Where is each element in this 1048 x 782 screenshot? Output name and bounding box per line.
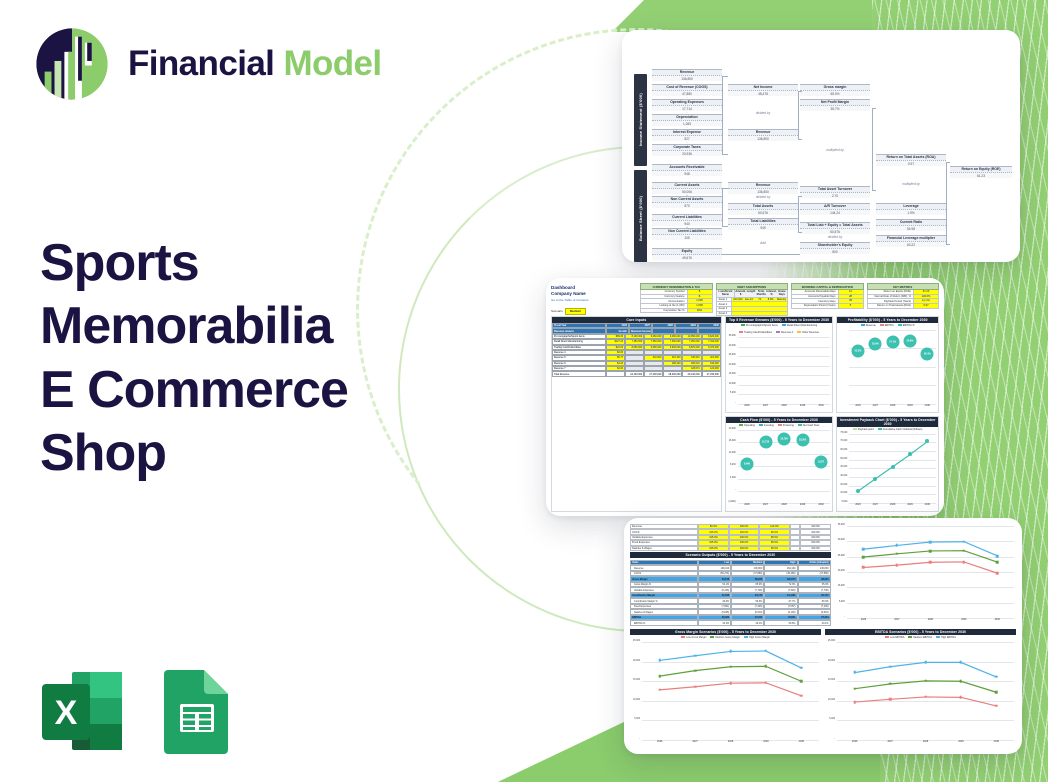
dupont-node-roa: Return on Total Assets (ROA)0.97: [876, 154, 946, 166]
dupont-node-title: Net Income: [728, 84, 798, 91]
legend-swatch: [778, 424, 782, 426]
ebitda-percent-bubble: 55.3%: [852, 344, 865, 357]
x-tick: 2028: [908, 740, 943, 748]
dupont-node-title: Operating Expenses: [652, 99, 722, 106]
y-axis-labels: 35,00030,00025,00020,00015,00010,0005,00…: [726, 335, 737, 404]
ebitda-percent-bubble: 60.4%: [921, 348, 934, 361]
y-tick: 15,000: [825, 679, 835, 681]
y-tick: 70,000: [837, 440, 847, 442]
core-inputs-cell[interactable]: 27,400,000: [644, 371, 663, 376]
core-inputs-cell[interactable]: 29,140,000: [682, 371, 701, 376]
y-axis-labels: 35,00030,00025,00020,00015,0005,000-: [835, 524, 846, 618]
y-tick: 5,000: [630, 718, 640, 720]
cash-flow-bubble: 8,466: [740, 458, 753, 471]
dupont-node-gross_margin: Gross margin65.0%: [800, 84, 870, 96]
x-tick: 2026: [738, 503, 757, 511]
x-axis-labels: 20262027202820292030: [849, 503, 936, 511]
row-value[interactable]: 1,000: [688, 299, 712, 303]
core-inputs-panel: Core Inputs Fiscal Year20262027202820292…: [551, 316, 722, 512]
y-tick: 5,000: [825, 718, 835, 720]
scenario-selector[interactable]: Scenario Medium: [551, 308, 637, 315]
balance-sheet-band: Balance Sheet ($'000): [634, 170, 647, 262]
data-point-marker: [995, 676, 998, 679]
dupont-node-title: Total Assets: [728, 203, 798, 210]
dupont-node-value: 65.0%: [800, 91, 870, 96]
row-value[interactable]: 28: [839, 295, 863, 299]
scenario-value[interactable]: Medium: [565, 308, 586, 315]
svg-text:X: X: [55, 694, 78, 732]
y-tick: (4,000): [726, 501, 736, 503]
currency-denomination-panel: CURRENCY DENOMINATION & TAX Currency Sym…: [640, 283, 713, 313]
row-value[interactable]: 61.23: [914, 290, 938, 294]
x-tick: 2026: [849, 503, 866, 511]
x-tick: 2027: [880, 618, 913, 626]
legend-item: Other Revenue: [797, 331, 819, 334]
debt-cell[interactable]: [743, 307, 754, 311]
dupont-node-net_income: Net Income48,478: [728, 84, 798, 96]
debt-cell[interactable]: [743, 312, 754, 316]
data-point-marker: [996, 555, 999, 558]
core-inputs-column: Core Inputs Fiscal Year20262027202820292…: [551, 316, 722, 512]
dupont-node-value: 948: [652, 171, 722, 176]
y-tick: 8,000: [726, 464, 736, 466]
y-tick: 30,000: [837, 475, 847, 477]
payback-marker: [873, 477, 877, 481]
x-tick: 2027: [756, 404, 775, 412]
y-tick: 20,000: [726, 428, 736, 430]
debt-cell[interactable]: Asset 2: [717, 302, 733, 306]
x-tick: 2030: [919, 404, 936, 412]
legend-swatch: [861, 324, 865, 326]
legend-item: Cumulative Cash Outflows/(Inflows): [878, 428, 923, 431]
x-tick: 2027: [867, 404, 884, 412]
dupont-connector: [798, 196, 802, 197]
dupont-node-tle_ta: Total Liab + Equity = Total Assets50,576: [800, 222, 870, 234]
debt-cell[interactable]: [765, 307, 776, 311]
x-axis-labels: 20262027202820292030: [738, 404, 831, 412]
debt-cell[interactable]: [765, 302, 776, 306]
dupont-node-title: Shareholder's Equity: [800, 242, 870, 249]
debt-col-header: Interest, %: [766, 290, 776, 297]
dupont-node-value: 48,478: [728, 91, 798, 96]
dupont-node-ar: Accounts Receivable948: [652, 164, 722, 176]
dupont-node-title: Interest Expense: [652, 129, 722, 136]
legend-item: Trading Card/Collectibles: [739, 331, 772, 334]
dupont-node-value: 50,576: [800, 229, 870, 234]
scenario-left-column: Revenue80.0%100.0%120.0%100.0%COGS105.0%…: [630, 524, 831, 626]
dupont-node-value: 2.70: [800, 193, 870, 198]
dupont-connector: [722, 188, 723, 226]
x-tick: 2030: [981, 618, 1014, 626]
scenario-overview-chart[interactable]: 35,00030,00025,00020,00015,0005,000-2026…: [835, 524, 1016, 626]
dupont-node-value: 144.24: [800, 210, 870, 215]
row-label: Depreciation Period (Years): [792, 304, 839, 308]
scenario-spacer: [790, 546, 801, 551]
dupont-analysis-card[interactable]: Income Statement ($'000)Balance Sheet ($…: [622, 30, 1020, 262]
gross-margin-plot: 25,00020,00015,00010,0005,000-2026202720…: [630, 640, 821, 748]
debt-cell[interactable]: [776, 302, 787, 306]
row-value[interactable]: 35: [839, 299, 863, 303]
scenario-overview-plot: 35,00030,00025,00020,00015,0005,000-2026…: [835, 524, 1016, 626]
scenario-input-value[interactable]: 105.0%: [698, 546, 728, 551]
debt-cell[interactable]: Asset 3: [717, 307, 733, 311]
y-tick: 10,000: [825, 699, 835, 701]
x-tick: 2029: [947, 618, 980, 626]
dupont-node-revenue_ta: Revenue136,800: [728, 182, 798, 194]
y-axis-labels: 75,00070,00060,00050,00040,00030,00020,0…: [837, 432, 848, 504]
dupont-node-title: Revenue: [728, 129, 798, 136]
x-tick: 2026: [738, 404, 757, 412]
data-point-marker: [963, 540, 966, 543]
ebitda-bar-label: 15,320: [875, 401, 882, 403]
row-label: Looking at the (1,000): [641, 304, 688, 308]
row-value[interactable]: 0.97: [914, 304, 938, 308]
scenario-row-value: 49.1%: [798, 620, 831, 626]
data-point-marker: [694, 654, 697, 657]
dupont-diagram: Income Statement ($'000)Balance Sheet ($…: [622, 30, 1020, 262]
row-label: Inventory Days: [792, 299, 839, 303]
scenario-row-value: 33.2%: [698, 620, 731, 626]
dupont-connector: [946, 162, 950, 163]
x-axis-labels: 20262027202820292030: [847, 618, 1014, 626]
legend-item: Payback point: [853, 428, 874, 431]
debt-cell[interactable]: Maturity: [776, 298, 787, 302]
row-value[interactable]: 12: [839, 290, 863, 294]
brand-word-one: Financial: [128, 44, 274, 83]
x-tick: 2030: [812, 404, 831, 412]
core-inputs-cell[interactable]: [606, 371, 625, 376]
ebitda-percent-bubble: 55.9%: [869, 338, 882, 351]
x-tick: 2026: [837, 740, 872, 748]
y-tick: 25,000: [825, 640, 835, 642]
dupont-node-title: Financial Leverage multiplier: [876, 235, 946, 242]
plot-area: 8,46615,73016,70016,5009,237: [738, 430, 831, 504]
y-tick: -: [726, 489, 736, 491]
dupont-node-title: Current Liabilities: [652, 214, 722, 221]
dupont-node-title: Current Assets: [652, 182, 722, 189]
y-tick: 60,000: [837, 449, 847, 451]
legend-swatch: [776, 331, 780, 333]
core-inputs-cell[interactable]: 28,400,000: [663, 371, 682, 376]
y-axis-labels: 20,00016,00012,0008,0004,000-(4,000): [726, 428, 737, 504]
dupont-node-noncurrent_assets: Non Current Assets570: [652, 196, 722, 208]
microsoft-excel-icon[interactable]: X: [38, 668, 126, 756]
row-value[interactable]: $: [688, 295, 712, 299]
x-tick: 2026: [642, 740, 677, 748]
legend-swatch: [798, 424, 802, 426]
debt-cell[interactable]: 8.0%: [765, 298, 776, 302]
y-tick: 20,000: [837, 484, 847, 486]
debt-col-header: Amount, $: [735, 290, 746, 297]
x-tick: 2029: [793, 503, 812, 511]
row-value[interactable]: $: [688, 290, 712, 294]
dupont-node-net_profit_margin: Net Profit Margin35.7%: [800, 99, 870, 111]
legend-item: Revenue: [861, 324, 876, 327]
dupont-node-value: 136,800: [728, 136, 798, 141]
row-value[interactable]: 1,000: [688, 304, 712, 308]
payback-marker: [908, 452, 912, 456]
dupont-node-title: A/R Turnover: [800, 203, 870, 210]
legend-swatch: [710, 636, 714, 638]
debt-cell[interactable]: [765, 312, 776, 316]
y-tick: 20,000: [835, 570, 845, 572]
plot-area: [642, 642, 819, 740]
y-tick: 30,000: [835, 539, 845, 541]
pie-bars-circle-logo-icon: [34, 26, 110, 102]
legend-item: Low EBITDA: [885, 636, 904, 639]
dupont-connector: [946, 162, 947, 244]
background-green-tab: [612, 0, 872, 32]
dupont-node-total_assets: Total Assets50,576: [728, 203, 798, 215]
debt-cell[interactable]: Asset 4: [717, 312, 733, 316]
legend-item: Operating: [739, 424, 755, 427]
debt-col-header: Term, Months: [756, 290, 766, 297]
y-tick: 35,000: [835, 524, 845, 526]
x-axis-labels: 20262027202820292030: [642, 740, 819, 748]
y-tick: 10,000: [837, 492, 847, 494]
dupont-operator: divided by: [728, 195, 798, 199]
key-metrics-panel: KEY METRICS Return on Equity (ROE)61.23I…: [867, 283, 940, 313]
data-point-marker: [896, 544, 899, 547]
row-value[interactable]: 1yr 2m: [914, 299, 938, 303]
legend-item: High Gross Margin: [744, 636, 770, 639]
payback-marker: [925, 439, 929, 443]
debt-cell[interactable]: [776, 307, 787, 311]
debt-cell[interactable]: [754, 312, 765, 316]
y-tick: 30,000: [726, 345, 736, 347]
data-point-marker: [960, 661, 963, 664]
profitability-chart[interactable]: Profitability ($'000) - 5 Years to Decem…: [836, 316, 939, 413]
dupont-node-value: 49,676: [652, 255, 722, 260]
dupont-node-total_liabilities: Total Liabilities949: [728, 218, 798, 230]
scenario-input-table[interactable]: Revenue80.0%100.0%120.0%100.0%COGS105.0%…: [630, 524, 831, 551]
debt-cell[interactable]: 70: [754, 298, 765, 302]
profitability-plot: 24,10013,18027,40015,32028,40016,21029,1…: [837, 328, 938, 412]
page-title-line-4: Shop: [40, 422, 440, 485]
dupont-node-ar_turnover: A/R Turnover144.24: [800, 203, 870, 215]
google-sheets-icon[interactable]: [158, 668, 234, 756]
ebitda-percent-bubble: 56.9%: [904, 334, 917, 347]
legend-swatch: [739, 424, 743, 426]
x-tick: 2027: [867, 503, 884, 511]
dashboard-company-name: Company Name: [551, 291, 637, 297]
plot-area: [738, 337, 831, 404]
debt-cell[interactable]: Asset 1: [717, 298, 733, 302]
scenario-input-value[interactable]: 100.0%: [729, 546, 759, 551]
row-value[interactable]: 5: [839, 304, 863, 308]
x-tick: 2030: [812, 503, 831, 511]
dupont-node-title: Total Asset Turnover: [800, 186, 870, 193]
core-inputs-cell[interactable]: Total Revenue: [552, 371, 606, 376]
scenario-row-value: 59.6%: [764, 620, 797, 626]
investment-payback-chart[interactable]: Investment Payback Chart ($'000) - 5 Yea…: [836, 416, 939, 513]
data-point-marker: [658, 659, 661, 662]
y-tick: 20,000: [726, 364, 736, 366]
debt-cell[interactable]: [732, 302, 743, 306]
legend-item: EBITDA %: [898, 324, 915, 327]
y-tick: 5,000: [835, 601, 845, 603]
legend-item: Net Cash Flow: [798, 424, 819, 427]
row-label: Corporation Tax %: [641, 309, 688, 313]
row-value[interactable]: 146.0%: [914, 295, 938, 299]
row-label: Currency Symbol: [641, 290, 688, 294]
ebitda-bar-label: 16,580: [910, 401, 917, 403]
legend-item: Medium EBITDA: [908, 636, 932, 639]
promo-banner: Financial Model Sports Memorabilia E Com…: [0, 0, 1048, 782]
legend-swatch: [741, 324, 745, 326]
dupont-node-value: 800: [800, 249, 870, 254]
scenario-table-row: EBITDA %33.2%49.1%59.6%49.1%: [630, 620, 831, 626]
currency-row: Corporation Tax %30%: [640, 309, 713, 314]
row-label: Denomination: [641, 299, 688, 303]
row-label: Return on Total Assets (ROA): [868, 304, 915, 308]
page-title: Sports Memorabilia E Commerce Shop: [40, 232, 440, 486]
scenario-line-charts: Gross Margin Scenarios ($'000) - 5 Years…: [630, 629, 1016, 748]
debt-cell[interactable]: [776, 312, 787, 316]
legend-item: Revenue 4: [776, 331, 793, 334]
data-point-marker: [853, 671, 856, 674]
legend-swatch: [898, 324, 902, 326]
working-capital-row: Depreciation Period (Years)5: [791, 304, 864, 309]
y-tick: 12,000: [726, 452, 736, 454]
dupont-node-value: 20,936: [652, 151, 722, 156]
core-inputs-cell[interactable]: 24,100,000: [625, 371, 644, 376]
dupont-node-title: Net Profit Margin: [800, 99, 870, 106]
cash-flow-bubble: 15,730: [759, 436, 772, 449]
dupont-node-taxes: Corporate Taxes20,936: [652, 144, 722, 156]
investment-payback-chart-title: Investment Payback Chart ($'000) - 5 Yea…: [837, 417, 938, 427]
x-tick: 2028: [775, 503, 794, 511]
dupont-connector: [798, 196, 799, 232]
working-capital-panel: WORKING CAPITAL & DEPRECIATION Accounts …: [791, 283, 864, 313]
legend-swatch: [880, 324, 884, 326]
y-tick: -: [726, 402, 736, 404]
y-tick: 15,000: [835, 585, 845, 587]
x-tick: 2030: [784, 740, 819, 748]
gridline: [738, 491, 831, 492]
dupont-node-total_asset_turn: Total Asset Turnover2.70: [800, 186, 870, 198]
y-tick: 5,000: [837, 501, 847, 503]
top5-revenue-chart[interactable]: Top 5 Revenue Streams ($'000) - 5 Years …: [725, 316, 834, 413]
row-label: Currency Feature: [641, 295, 688, 299]
y-tick: 25,000: [835, 555, 845, 557]
y-tick: 4,000: [726, 477, 736, 479]
dupont-node-title: Depreciation: [652, 114, 722, 121]
dupont-connector: [798, 91, 799, 139]
scenario-analysis-card[interactable]: Revenue80.0%100.0%120.0%100.0%COGS105.0%…: [624, 518, 1022, 754]
legend-item: Pro Autographs/Sports Items: [741, 324, 778, 327]
page-title-line-1: Sports: [40, 232, 440, 295]
data-point-marker: [729, 650, 732, 653]
dashboard-sheet: Dashboard Company Name Go to the Table o…: [546, 278, 944, 516]
dashboard-toc-link[interactable]: Go to the Table of Contents: [551, 298, 637, 302]
x-tick: 2027: [677, 740, 712, 748]
plot-area: [849, 434, 936, 504]
debt-header-row: Loan/Grant NameAmount, $LengthTerm, Mont…: [716, 290, 789, 298]
ebitda-bar-label: 13,430: [927, 401, 934, 403]
x-tick: 2028: [884, 404, 901, 412]
y-tick: -: [825, 738, 835, 740]
y-tick: 20,000: [825, 660, 835, 662]
plot-area: 24,10013,18027,40015,32028,40016,21029,1…: [849, 330, 936, 404]
cash-flow-plot: 20,00016,00012,0008,0004,000-(4,000)8,46…: [726, 428, 833, 512]
financial-dashboard-card[interactable]: Dashboard Company Name Go to the Table o…: [546, 278, 944, 516]
y-tick: 15,000: [630, 679, 640, 681]
line-series: [837, 642, 1014, 740]
debt-cell[interactable]: [754, 307, 765, 311]
dupont-node-title: Revenue: [728, 182, 798, 189]
dupont-node-value: 0.97: [876, 161, 946, 166]
legend-swatch: [797, 331, 801, 333]
scenario-input-row: Salaries & Wages105.0%100.0%95.0%100.0%: [630, 546, 831, 551]
dupont-connector: [722, 76, 723, 154]
payback-marker: [856, 489, 860, 493]
dupont-node-title: Non Current Assets: [652, 196, 722, 203]
ebitda-bar-label: 16,210: [892, 401, 899, 403]
debt-cell[interactable]: Jan-24: [743, 298, 754, 302]
dupont-node-value: 105: [652, 235, 722, 240]
data-point-marker: [862, 548, 865, 551]
dupont-node-value: 50,576: [728, 210, 798, 215]
debt-cell[interactable]: [732, 312, 743, 316]
dupont-node-title: Cost of Revenue (COGS): [652, 84, 722, 91]
ebitda-scenarios-chart[interactable]: EBITDA Scenarios ($'000) - 5 Years to De…: [825, 629, 1016, 748]
scenario-label: Scenario: [551, 309, 563, 313]
dupont-node-flm: Financial Leverage multiplier63.22: [876, 235, 946, 247]
y-tick: 40,000: [837, 466, 847, 468]
dupont-node-shareholders_eq: Shareholder's Equity800: [800, 242, 870, 254]
debt-col-header: Loan/Grant Name: [717, 290, 736, 297]
row-value[interactable]: 30%: [688, 309, 712, 313]
dupont-node-title: Total Liab + Equity = Total Assets: [800, 222, 870, 229]
legend-swatch: [782, 324, 786, 326]
debt-cell[interactable]: 100,000: [732, 298, 743, 302]
scenario-outputs-header: Scenario Outputs ($'000) - 5 Years to De…: [630, 552, 831, 558]
dupont-node-revenue_ni: Revenue136,800: [728, 129, 798, 141]
ebitda-percent-bubble: 57.1%: [886, 336, 899, 349]
cash-flow-chart[interactable]: Cash Flow ($'000) - 5 Years to December …: [725, 416, 834, 513]
scenario-sheet: Revenue80.0%100.0%120.0%100.0%COGS105.0%…: [624, 518, 1022, 754]
cash-flow-bubble: 16,500: [796, 434, 809, 447]
x-tick: 2026: [849, 404, 866, 412]
data-point-marker: [924, 661, 927, 664]
x-tick: 2028: [884, 503, 901, 511]
legend-item: Low Gross Margin: [681, 636, 706, 639]
dupont-node-title: Return on Total Assets (ROA): [876, 154, 946, 161]
y-tick: 10,000: [726, 383, 736, 385]
y-tick: 75,000: [837, 432, 847, 434]
line-series: [642, 642, 819, 740]
legend-item: High EBITDA: [936, 636, 956, 639]
core-inputs-cell[interactable]: 27,230,000: [702, 371, 721, 376]
gross-margin-scenarios-chart[interactable]: Gross Margin Scenarios ($'000) - 5 Years…: [630, 629, 821, 748]
dupont-connector: [872, 190, 876, 191]
data-point-marker: [889, 665, 892, 668]
ebitda-plot: 25,00020,00015,00010,0005,000-2026202720…: [825, 640, 1016, 748]
dupont-node-title: Current Ratio: [876, 219, 946, 226]
ebitda-bar-label: 13,180: [858, 401, 865, 403]
y-tick: 50,000: [837, 458, 847, 460]
x-tick: 2029: [901, 404, 918, 412]
row-label: Return on Equity (ROE): [868, 290, 915, 294]
debt-cell[interactable]: [754, 302, 765, 306]
debt-cell[interactable]: [743, 302, 754, 306]
scenario-input-value[interactable]: 95.0%: [759, 546, 789, 551]
x-tick: 2026: [847, 618, 880, 626]
cash-flow-bubble: 16,700: [778, 433, 791, 446]
debt-cell[interactable]: [732, 307, 743, 311]
dupont-operator: divided by: [728, 111, 798, 115]
